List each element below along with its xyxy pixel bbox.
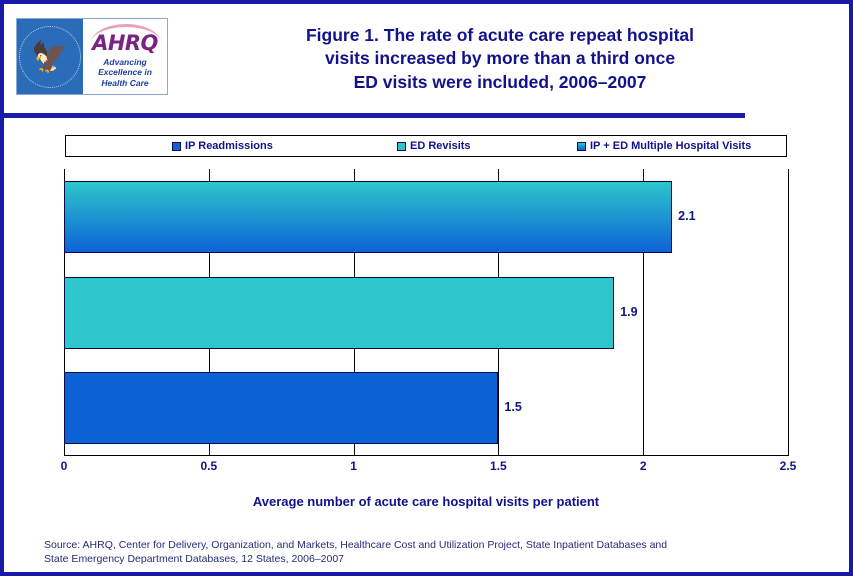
- source-line2: State Emergency Department Databases, 12…: [44, 552, 824, 566]
- bar-value-label-1: 1.9: [620, 305, 637, 319]
- source-note: Source: AHRQ, Center for Delivery, Organ…: [44, 538, 824, 566]
- chart-plot-area: 2.11.91.5: [64, 169, 788, 456]
- source-line1: Source: AHRQ, Center for Delivery, Organ…: [44, 538, 824, 552]
- x-tick-2: 2: [640, 459, 647, 473]
- ahrq-tagline: Advancing Excellence in Health Care: [98, 57, 152, 87]
- header-divider: [4, 113, 745, 118]
- figure-header: 🦅 AHRQ Advancing Excellence in Health Ca…: [4, 4, 849, 114]
- legend-item-label: IP + ED Multiple Hospital Visits: [590, 140, 751, 152]
- figure-title: Figure 1. The rate of acute care repeat …: [180, 24, 820, 94]
- x-tick-0: 0: [61, 459, 68, 473]
- legend-item-label: IP Readmissions: [185, 140, 273, 152]
- hhs-seal-icon: 🦅: [17, 19, 83, 94]
- bar-0[interactable]: [64, 181, 672, 253]
- gridline-2.5: [788, 169, 789, 456]
- bar-value-label-0: 2.1: [678, 209, 695, 223]
- bar-2[interactable]: [64, 372, 498, 444]
- ahrq-tagline-line2: Excellence in: [98, 67, 152, 77]
- x-tick-2.5: 2.5: [780, 459, 797, 473]
- chart-legend: IP ReadmissionsED RevisitsIP + ED Multip…: [65, 135, 787, 157]
- ahrq-logo: 🦅 AHRQ Advancing Excellence in Health Ca…: [16, 18, 168, 95]
- x-axis-tick-labels: 00.511.522.5: [64, 459, 788, 477]
- ahrq-wordmark: AHRQ Advancing Excellence in Health Care: [83, 19, 167, 94]
- ahrq-tagline-line1: Advancing: [98, 57, 152, 67]
- bar-1[interactable]: [64, 277, 614, 349]
- legend-item-0[interactable]: IP Readmissions: [172, 139, 273, 153]
- figure-page: 🦅 AHRQ Advancing Excellence in Health Ca…: [0, 0, 853, 576]
- figure-title-line3: ED visits were included, 2006–2007: [180, 71, 820, 94]
- figure-title-line2: visits increased by more than a third on…: [180, 47, 820, 70]
- legend-swatch-icon: [397, 142, 406, 151]
- ahrq-tagline-line3: Health Care: [98, 78, 152, 88]
- legend-item-label: ED Revisits: [410, 140, 471, 152]
- x-tick-1: 1: [350, 459, 357, 473]
- logo-arc-icon: [91, 24, 161, 43]
- x-axis-title: Average number of acute care hospital vi…: [64, 494, 788, 509]
- x-tick-0.5: 0.5: [200, 459, 217, 473]
- legend-swatch-icon: [577, 142, 586, 151]
- legend-item-2[interactable]: IP + ED Multiple Hospital Visits: [577, 139, 751, 153]
- legend-item-1[interactable]: ED Revisits: [397, 139, 471, 153]
- x-tick-1.5: 1.5: [490, 459, 507, 473]
- hhs-bird-icon: 🦅: [31, 43, 68, 73]
- legend-swatch-icon: [172, 142, 181, 151]
- bar-value-label-2: 1.5: [504, 400, 521, 414]
- figure-title-line1: Figure 1. The rate of acute care repeat …: [180, 24, 820, 47]
